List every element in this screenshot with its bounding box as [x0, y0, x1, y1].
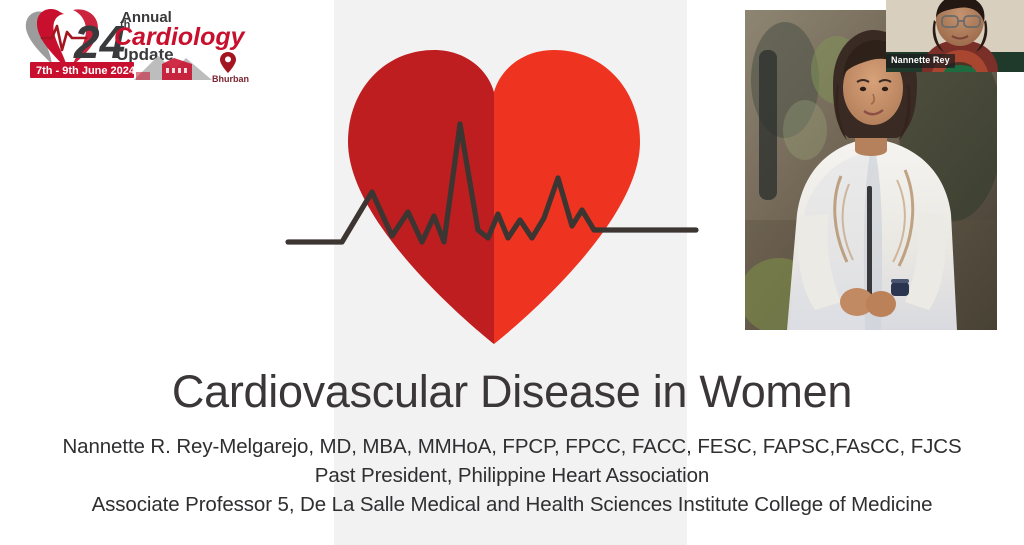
heart-ecg-graphic — [282, 14, 706, 354]
screen-share-stage: 24 th Annual Cardiology Update 7th - 9th… — [0, 0, 1024, 545]
svg-text:Bhurban: Bhurban — [212, 74, 249, 84]
presenter-credentials: Nannette R. Rey-Melgarejo, MD, MBA, MMHo… — [0, 434, 1024, 460]
video-participant-name: Nannette Rey — [886, 54, 955, 68]
slide-title: Cardiovascular Disease in Women — [0, 364, 1024, 420]
svg-text:7th - 9th June 2024: 7th - 9th June 2024 — [36, 65, 136, 77]
presenter-role: Past President, Philippine Heart Associa… — [0, 463, 1024, 489]
presenter-affiliation: Associate Professor 5, De La Salle Medic… — [0, 492, 1024, 518]
svg-text:Update: Update — [116, 45, 174, 64]
conference-logo: 24 th Annual Cardiology Update 7th - 9th… — [16, 2, 252, 84]
